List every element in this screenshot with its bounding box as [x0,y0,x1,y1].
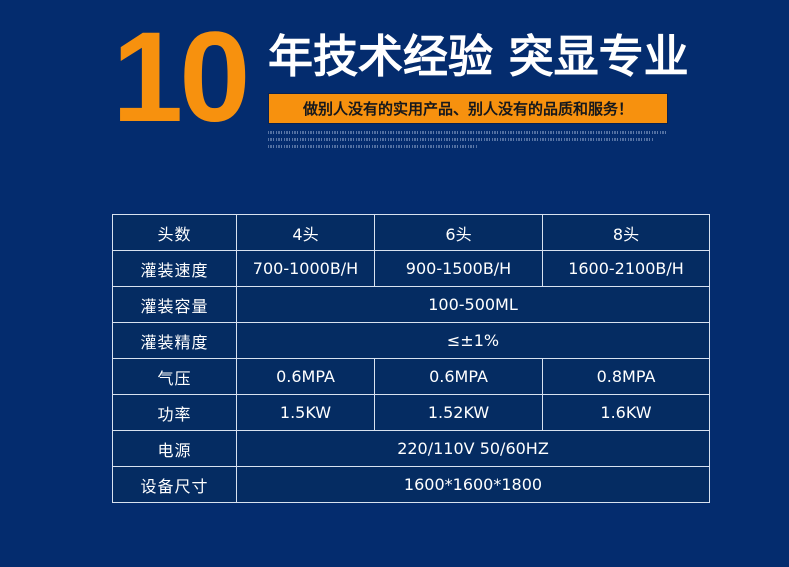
table-cell: 0.6MPA [237,359,375,395]
table-cell-merged: 1600*1600*1800 [237,467,710,503]
page-title: 年技术经验 突显专业 [268,26,689,88]
decorative-microtext [268,131,668,153]
table-row-label: 灌装容量 [113,287,237,323]
subtitle-banner: 做别人没有的实用产品、别人没有的品质和服务！ [268,93,668,124]
table-cell: 1.6KW [543,395,710,431]
promo-banner-page: 10 年技术经验 突显专业 做别人没有的实用产品、别人没有的品质和服务！ 头数4… [0,0,789,567]
table-row: 功率1.5KW1.52KW1.6KW [113,395,710,431]
table-row: 灌装精度≤±1% [113,323,710,359]
table-row-label: 功率 [113,395,237,431]
table-row-label: 灌装精度 [113,323,237,359]
table-cell: 700-1000B/H [237,251,375,287]
table-row: 灌装容量100-500ML [113,287,710,323]
table-row: 气压0.6MPA0.6MPA0.8MPA [113,359,710,395]
table-row-label: 电源 [113,431,237,467]
table-header-label: 头数 [113,215,237,251]
table-row: 设备尺寸1600*1600*1800 [113,467,710,503]
table-cell: 0.6MPA [375,359,543,395]
table-cell-merged: 220/110V 50/60HZ [237,431,710,467]
table-cell: 900-1500B/H [375,251,543,287]
microtext-line [268,145,478,148]
table-cell-merged: ≤±1% [237,323,710,359]
microtext-line [268,131,668,134]
table-row-label: 气压 [113,359,237,395]
table-cell: 0.8MPA [543,359,710,395]
table-header-cell: 6头 [375,215,543,251]
table-row: 电源220/110V 50/60HZ [113,431,710,467]
hero-section: 10 年技术经验 突显专业 做别人没有的实用产品、别人没有的品质和服务！ [0,0,789,175]
subtitle-text: 做别人没有的实用产品、别人没有的品质和服务！ [303,98,633,119]
table-row-label: 设备尺寸 [113,467,237,503]
table-cell: 1600-2100B/H [543,251,710,287]
table-row-label: 灌装速度 [113,251,237,287]
table-header-cell: 4头 [237,215,375,251]
specification-table: 头数4头6头8头灌装速度700-1000B/H900-1500B/H1600-2… [112,214,710,503]
years-number: 10 [112,14,272,144]
microtext-line [268,138,653,141]
table-header-cell: 8头 [543,215,710,251]
table-header-row: 头数4头6头8头 [113,215,710,251]
table-cell: 1.52KW [375,395,543,431]
specification-table-body: 头数4头6头8头灌装速度700-1000B/H900-1500B/H1600-2… [113,215,710,503]
table-row: 灌装速度700-1000B/H900-1500B/H1600-2100B/H [113,251,710,287]
table-cell: 1.5KW [237,395,375,431]
table-cell-merged: 100-500ML [237,287,710,323]
